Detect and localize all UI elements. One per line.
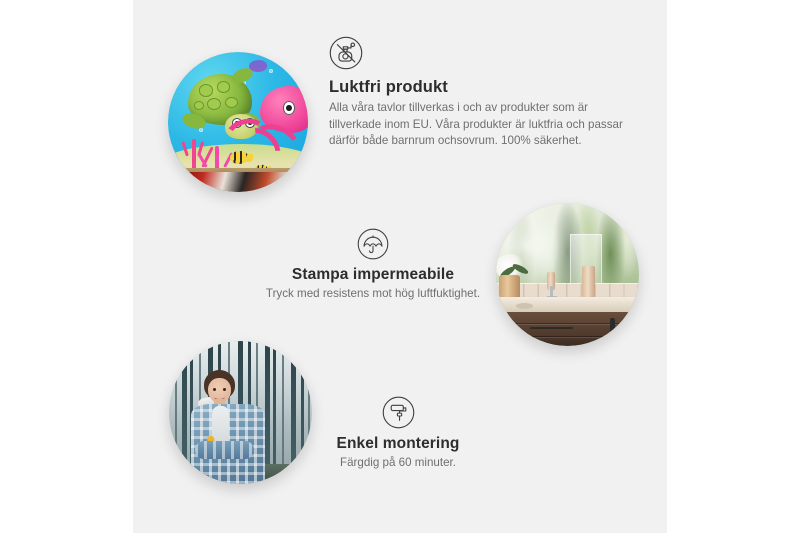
feature-title: Luktfri produkt: [329, 78, 629, 97]
paint-roller-icon: [263, 396, 533, 429]
page-root: Luktfri produkt Alla våra tavlor tillver…: [0, 0, 800, 533]
feature-title: Enkel montering: [263, 435, 533, 453]
umbrella-icon: [208, 228, 538, 260]
feature-description: Alla våra tavlor tillverkas i och av pro…: [329, 100, 629, 150]
feature-description: Tryck med resistens mot hög luftfuktighe…: [208, 286, 538, 302]
feature-block-easy-mounting: Enkel montering Färgdig på 60 minuter.: [263, 396, 533, 471]
no-fragrance-spray-bottle-icon: [329, 36, 629, 70]
feature-block-waterproof: Stampa impermeabile Tryck med resistens …: [208, 228, 538, 302]
feature-block-odour-free: Luktfri produkt Alla våra tavlor tillver…: [329, 36, 629, 150]
feature-image-underwater: [168, 52, 308, 192]
feature-panel: Luktfri produkt Alla våra tavlor tillver…: [133, 0, 667, 533]
feature-description: Färgdig på 60 minuter.: [263, 455, 533, 471]
feature-title: Stampa impermeabile: [208, 266, 538, 284]
